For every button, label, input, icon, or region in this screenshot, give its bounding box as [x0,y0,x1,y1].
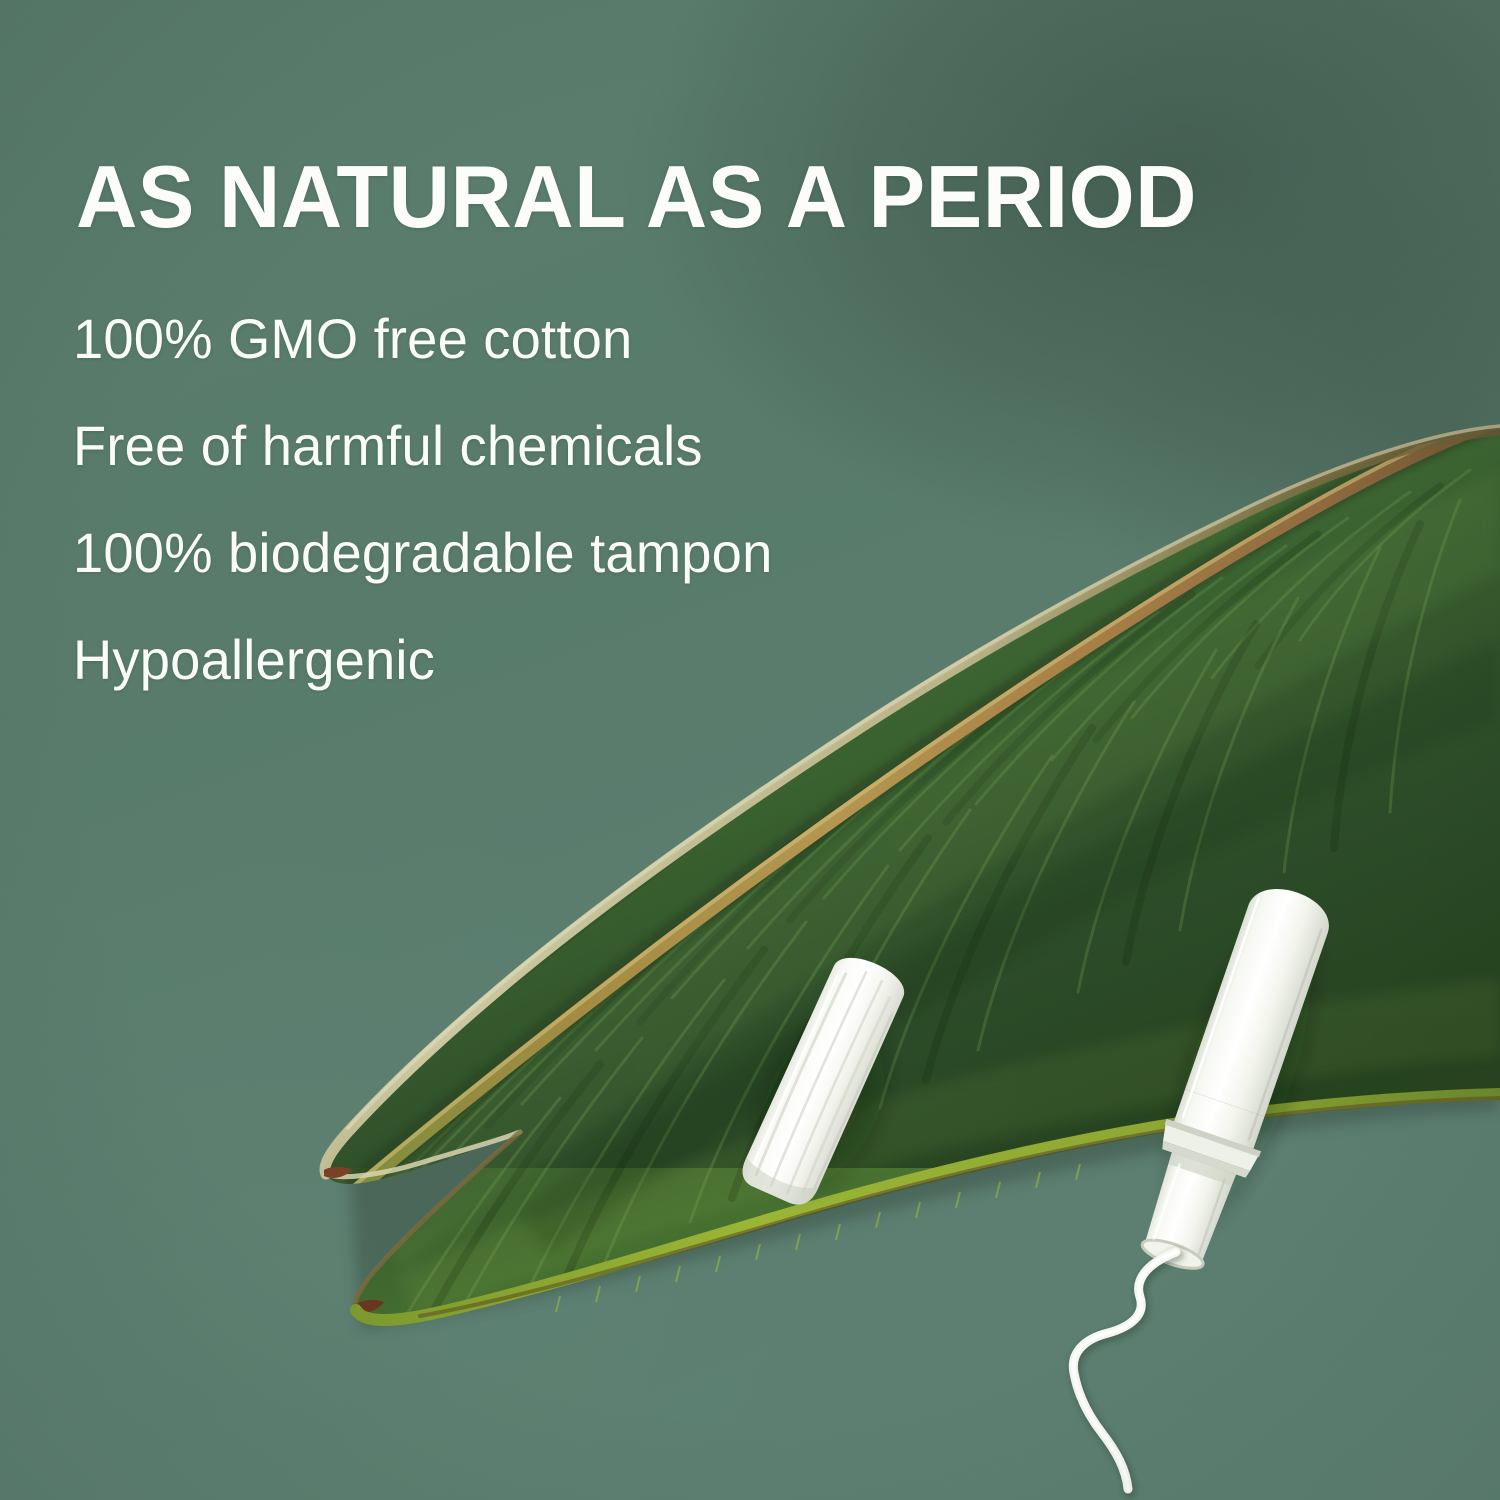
feature-bullet-4: Hypoallergenic [73,627,435,692]
feature-bullet-3: 100% biodegradable tampon [73,520,772,585]
product-feature-image: AS NATURAL AS A PERIOD 100% GMO free cot… [0,0,1500,1500]
page-title: AS NATURAL AS A PERIOD [76,146,1197,248]
feature-bullet-2: Free of harmful chemicals [73,413,703,478]
feature-bullet-1: 100% GMO free cotton [73,306,632,371]
